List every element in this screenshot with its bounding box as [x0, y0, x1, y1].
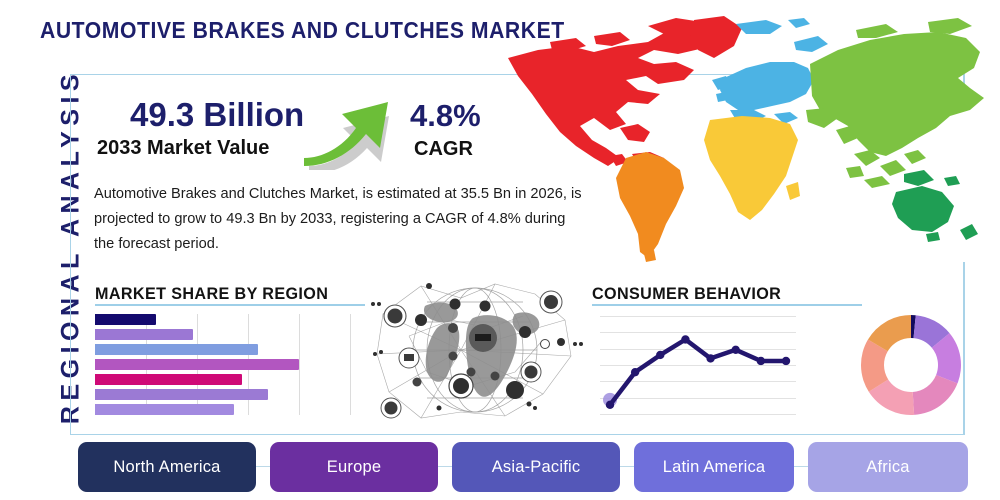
region-tab-connector	[620, 466, 634, 467]
page-title: AUTOMOTIVE BRAKES AND CLUTCHES MARKET	[40, 17, 565, 44]
cagr-value: 4.8%	[410, 98, 481, 134]
line-chart-point	[706, 354, 714, 362]
section-title-consumer-behavior: CONSUMER BEHAVIOR	[592, 284, 781, 304]
region-tab-latin-america[interactable]: Latin America	[634, 442, 794, 492]
region-tab-label: Asia-Pacific	[492, 458, 581, 477]
market-share-bar-chart	[95, 314, 350, 415]
region-tab-north-america[interactable]: North America	[78, 442, 256, 492]
section-title-market-share: MARKET SHARE BY REGION	[95, 284, 328, 304]
bar-chart-bar	[95, 374, 242, 385]
region-tab-connector	[438, 466, 452, 467]
consumer-behavior-line-chart	[600, 312, 796, 418]
region-tab-africa[interactable]: Africa	[808, 442, 968, 492]
infographic-root: AUTOMOTIVE BRAKES AND CLUTCHES MARKET RE…	[0, 0, 1000, 500]
growth-arrow-up-icon	[298, 78, 410, 170]
region-tab-connector	[256, 466, 270, 467]
bar-chart-bar	[95, 389, 268, 400]
line-chart-point	[681, 335, 689, 343]
global-network-globe-icon	[365, 276, 585, 424]
bar-chart-bar	[95, 314, 156, 325]
cagr-caption: CAGR	[414, 138, 473, 161]
bar-chart-bar	[95, 404, 234, 415]
region-tab-europe[interactable]: Europe	[270, 442, 438, 492]
section-rule-consumer-behavior	[592, 304, 862, 306]
region-tab-connector	[794, 466, 808, 467]
region-tab-label: Latin America	[663, 458, 766, 477]
section-rule-market-share	[95, 304, 365, 306]
bar-chart-bar	[95, 344, 258, 355]
line-chart-point	[732, 346, 740, 354]
bar-chart-bar	[95, 359, 299, 370]
market-value-caption: 2033 Market Value	[97, 137, 269, 160]
line-chart-point	[656, 351, 664, 359]
regional-distribution-donut-chart	[857, 311, 965, 419]
region-tab-asia-pacific[interactable]: Asia-Pacific	[452, 442, 620, 492]
line-chart-point	[757, 357, 765, 365]
line-chart-point	[606, 401, 614, 409]
line-chart-point	[782, 357, 790, 365]
line-chart-point	[631, 368, 639, 376]
donut-segment	[913, 375, 958, 415]
region-tab-label: Africa	[866, 458, 909, 477]
region-tab-label: Europe	[327, 458, 381, 477]
summary-text: Automotive Brakes and Clutches Market, i…	[94, 182, 589, 257]
region-tab-label: North America	[113, 458, 220, 477]
bar-chart-bar	[95, 329, 193, 340]
market-value: 49.3 Billion	[130, 96, 304, 134]
